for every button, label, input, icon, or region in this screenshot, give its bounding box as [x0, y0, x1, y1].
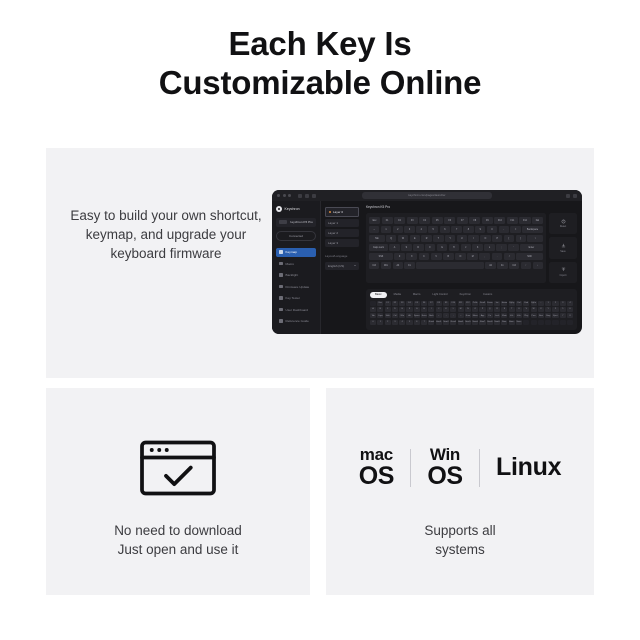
- keycap[interactable]: F5: [432, 217, 443, 224]
- key-picker-key[interactable]: Next: [538, 313, 544, 318]
- layer-item-3[interactable]: Layer 3: [325, 239, 359, 247]
- keycap[interactable]: /: [504, 253, 515, 260]
- key-picker-key[interactable]: Vol+: [516, 313, 522, 318]
- key-picker-tabs[interactable]: BasicMediaMacroLight ControlKeychronCust…: [370, 292, 573, 298]
- no-download-caption: No need to download Just open and use it: [114, 521, 242, 559]
- keycap[interactable]: [: [504, 235, 514, 242]
- keycap[interactable]: I: [468, 235, 478, 242]
- keycap[interactable]: Caps Lock: [369, 244, 388, 251]
- keycap[interactable]: Z: [394, 253, 405, 260]
- extensions-icon[interactable]: [566, 194, 570, 198]
- key-picker-key[interactable]: [531, 320, 537, 325]
- key-picker-key[interactable]: Num4: [458, 320, 464, 325]
- no-download-caption-line-1: No need to download: [114, 521, 242, 540]
- key-picker-key[interactable]: F6: [421, 301, 427, 306]
- key-picker-key[interactable]: Space: [414, 313, 420, 318]
- key-picker-key[interactable]: Enter: [421, 313, 427, 318]
- sidebar-item-user-dashboard[interactable]: User Dashboard: [276, 305, 316, 314]
- key-picker-key[interactable]: Stop: [545, 313, 551, 318]
- keycap[interactable]: ': [508, 244, 518, 251]
- keymap-icon: [279, 250, 283, 254]
- keycap[interactable]: Q: [386, 235, 396, 242]
- key-picker-key[interactable]: ↓: [450, 313, 456, 318]
- key-picker-key[interactable]: ↑: [443, 313, 449, 318]
- key-picker-key[interactable]: I: [428, 307, 434, 312]
- sidebar-item-label: Keymap: [286, 250, 297, 254]
- key-picker-row: EscF1F2F3F4F5F6F7F8F9F10F11F12PrtScScrol…: [370, 301, 573, 306]
- key-picker-tab[interactable]: Light Control: [427, 292, 452, 298]
- connection-status-badge[interactable]: Connected: [276, 231, 316, 241]
- key-picker-key[interactable]: K: [443, 307, 449, 312]
- keycap[interactable]: ;: [496, 244, 506, 251]
- sidebar-item-label: Reference Guide: [286, 319, 309, 323]
- key-picker-key[interactable]: Back: [428, 313, 434, 318]
- brand-name: Keychron: [285, 207, 300, 211]
- key-picker-tab[interactable]: Basic: [370, 292, 387, 298]
- key-picker-tab[interactable]: Media: [389, 292, 406, 298]
- browser-check-icon: [139, 438, 217, 498]
- app-main-stage: Keychron K5 Pro EscF1F2F3F4F5F6F7F8F9F10…: [363, 201, 582, 334]
- key-picker-key[interactable]: J: [436, 307, 442, 312]
- keycap[interactable]: \: [527, 235, 543, 242]
- sidebar-item-key-tester[interactable]: Key Tester: [276, 294, 316, 303]
- key-picker-key[interactable]: F7: [428, 301, 434, 306]
- keycap[interactable]: 6: [440, 226, 450, 233]
- sidebar-item-backlight[interactable]: Backlight: [276, 271, 316, 280]
- keyboard-row: EscF1F2F3F4F5F6F7F8F9F10F11F12Del: [369, 217, 543, 224]
- keyboard-row: ShiftZXCVBNM,./Shift: [369, 253, 543, 260]
- key-picker-key[interactable]: Num7: [479, 320, 485, 325]
- keycap[interactable]: Alt: [485, 262, 495, 269]
- guide-icon: [279, 319, 283, 323]
- keycap[interactable]: F11: [507, 217, 518, 224]
- keycap[interactable]: Alt: [393, 262, 403, 269]
- keycap[interactable]: F6: [444, 217, 455, 224]
- key-picker-panel: BasicMediaMacroLight ControlKeychronCust…: [366, 289, 577, 330]
- import-label: Import: [560, 274, 567, 277]
- key-picker-row: 01234567Num0Num1Num2Num3Num4Num5Num6Num7…: [370, 320, 573, 325]
- keycap[interactable]: B: [443, 253, 454, 260]
- layer-label: Layer 1: [328, 221, 338, 225]
- key-picker-tab[interactable]: Keychron: [455, 292, 476, 298]
- key-picker-key[interactable]: Num+: [509, 320, 515, 325]
- key-picker-key[interactable]: [567, 320, 573, 325]
- key-picker-key[interactable]: Win: [399, 313, 405, 318]
- import-icon: [561, 267, 566, 272]
- key-picker-key[interactable]: B: [377, 307, 383, 312]
- key-picker-key[interactable]: A: [370, 307, 376, 312]
- keycap[interactable]: F9: [482, 217, 493, 224]
- no-download-caption-line-2: Just open and use it: [114, 540, 242, 559]
- keycap[interactable]: 9: [475, 226, 485, 233]
- layout-language-label: Layout/Language: [325, 254, 359, 258]
- maximize-icon[interactable]: [288, 194, 291, 197]
- key-picker-key[interactable]: 0: [370, 320, 376, 325]
- app-sidebar: Keychron Keychron K5 Pro Connected Keyma…: [272, 201, 321, 334]
- browser-check-icon-wrap: [139, 425, 217, 511]
- key-picker-key[interactable]: [538, 320, 544, 325]
- reset-icon: [561, 219, 566, 224]
- key-picker-key[interactable]: Alt: [406, 313, 412, 318]
- key-picker-key[interactable]: H: [421, 307, 427, 312]
- address-bar-text: keychron.com/pages/launcher: [408, 194, 445, 197]
- keycap[interactable]: Backspace: [522, 226, 543, 233]
- brand: Keychron: [276, 206, 316, 212]
- layer-label: Layer 2: [328, 231, 338, 235]
- key-picker-key[interactable]: G: [414, 307, 420, 312]
- keycap[interactable]: -: [499, 226, 509, 233]
- key-picker-key[interactable]: [560, 320, 566, 325]
- app-body: Keychron Keychron K5 Pro Connected Keyma…: [272, 201, 582, 334]
- keycap[interactable]: G: [437, 244, 447, 251]
- dashboard-icon: [279, 308, 283, 312]
- keycap[interactable]: K: [472, 244, 482, 251]
- key-picker-key[interactable]: L: [450, 307, 456, 312]
- key-picker-key[interactable]: T: [509, 307, 515, 312]
- key-picker-key[interactable]: U: [516, 307, 522, 312]
- keycap[interactable]: F1: [382, 217, 393, 224]
- keycap[interactable]: .: [492, 253, 503, 260]
- key-picker-key[interactable]: F9: [443, 301, 449, 306]
- keycap[interactable]: V: [431, 253, 442, 260]
- close-icon[interactable]: [277, 194, 280, 197]
- layer-active-dot-icon: [329, 211, 331, 213]
- key-picker-key[interactable]: F5: [414, 301, 420, 306]
- os-divider-2: [479, 449, 481, 487]
- key-picker-key[interactable]: Lock: [494, 313, 500, 318]
- keycap[interactable]: ,: [479, 253, 490, 260]
- key-picker-key[interactable]: Num5: [465, 320, 471, 325]
- keycap[interactable]: X: [406, 253, 417, 260]
- key-picker-key[interactable]: [545, 320, 551, 325]
- keycap[interactable]: F2: [394, 217, 405, 224]
- keyboard-row: ~1234567890-=Backspace: [369, 226, 543, 233]
- feature-description: Easy to build your own shortcut, keymap,…: [60, 206, 272, 263]
- keycap[interactable]: 0: [487, 226, 497, 233]
- key-picker-key[interactable]: App: [479, 313, 485, 318]
- sidebar-item-firmware-update[interactable]: Firmware Update: [276, 282, 316, 291]
- linux-logo-label: Linux: [496, 455, 561, 480]
- keycap[interactable]: ↑: [521, 262, 531, 269]
- stage-title: Keychron K5 Pro: [366, 205, 577, 209]
- key-picker-key[interactable]: C: [385, 307, 391, 312]
- key-picker-key[interactable]: F1: [385, 301, 391, 306]
- key-picker-key[interactable]: PgUp: [509, 301, 515, 306]
- key-picker-key[interactable]: Del: [516, 301, 522, 306]
- macos-logo-bottom: OS: [359, 464, 394, 489]
- keycap[interactable]: N: [455, 253, 466, 260]
- key-picker-key[interactable]: Scroll: [479, 301, 485, 306]
- key-picker-key[interactable]: →: [458, 313, 464, 318]
- keycap[interactable]: S: [401, 244, 411, 251]
- key-picker-key[interactable]: D: [392, 307, 398, 312]
- keycap[interactable]: F10: [494, 217, 505, 224]
- key-picker-key[interactable]: Shift: [385, 313, 391, 318]
- key-picker-key[interactable]: Prev: [531, 313, 537, 318]
- keycap[interactable]: Win: [381, 262, 391, 269]
- layer-item-0[interactable]: Layer 0: [325, 207, 359, 217]
- key-picker-key[interactable]: [523, 320, 529, 325]
- key-picker-key[interactable]: F10: [450, 301, 456, 306]
- keycap[interactable]: Enter: [520, 244, 543, 251]
- key-picker-key[interactable]: Eject: [552, 313, 558, 318]
- sidebar-item-label: User Dashboard: [286, 308, 309, 312]
- os-support-caption: Supports all systems: [424, 521, 495, 559]
- keycap[interactable]: Y: [445, 235, 455, 242]
- keycap[interactable]: Del: [532, 217, 543, 224]
- sidebar-item-keymap[interactable]: Keymap: [276, 248, 316, 257]
- key-picker-key[interactable]: F12: [465, 301, 471, 306]
- key-picker-key[interactable]: Ins: [494, 301, 500, 306]
- keycap[interactable]: A: [389, 244, 399, 251]
- device-selector[interactable]: Keychron K5 Pro: [276, 218, 316, 227]
- keycap[interactable]: O: [480, 235, 490, 242]
- key-picker-key[interactable]: Num8: [487, 320, 493, 325]
- brand-logo-icon: [276, 206, 282, 212]
- macro-icon: [279, 262, 283, 266]
- keycap[interactable]: E: [410, 235, 420, 242]
- keyboard-layout[interactable]: EscF1F2F3F4F5F6F7F8F9F10F11F12Del~123456…: [366, 213, 546, 283]
- key-picker-key[interactable]: Y: [545, 307, 551, 312]
- key-picker-key[interactable]: F4: [406, 301, 412, 306]
- keycap[interactable]: Ctrl: [369, 262, 379, 269]
- keycap[interactable]: T: [433, 235, 443, 242]
- key-picker-grid[interactable]: EscF1F2F3F4F5F6F7F8F9F10F11F12PrtScScrol…: [370, 301, 573, 327]
- key-picker-key[interactable]: F8: [436, 301, 442, 306]
- key-picker-key[interactable]: Fn: [487, 313, 493, 318]
- layer-item-2[interactable]: Layer 2: [325, 229, 359, 237]
- sidebar-item-label: Backlight: [286, 273, 299, 277]
- key-picker-key[interactable]: Num: [465, 313, 471, 318]
- key-picker-key[interactable]: Play: [523, 313, 529, 318]
- os-logos: mac OS Win OS Linux: [359, 446, 561, 489]
- layout-language-value: English (US): [328, 264, 344, 268]
- forward-icon[interactable]: [305, 194, 309, 198]
- key-picker-key[interactable]: 8: [567, 313, 573, 318]
- key-picker-key[interactable]: R: [494, 307, 500, 312]
- page-title-line-2: Customizable Online: [0, 63, 640, 102]
- key-picker-key[interactable]: Num.: [501, 320, 507, 325]
- keycap[interactable]: C: [419, 253, 430, 260]
- menu-icon[interactable]: [573, 194, 577, 198]
- keycap[interactable]: Esc: [369, 217, 380, 224]
- reset-label: Reset: [560, 225, 566, 228]
- layer-panel: Layer 0 Layer 1 Layer 2 Layer 3 Layout/L…: [321, 201, 363, 334]
- key-picker-tab[interactable]: Custom: [478, 292, 497, 298]
- keycap[interactable]: 4: [416, 226, 426, 233]
- key-picker-key[interactable]: 2: [385, 320, 391, 325]
- windows-logo-top: Win: [430, 446, 460, 463]
- keycap[interactable]: 7: [451, 226, 461, 233]
- key-picker-key[interactable]: 5: [406, 320, 412, 325]
- key-picker-row: ABCDEFGHIJKLMNOPQRSTUVWXYZ56: [370, 307, 573, 312]
- save-label: Save: [560, 250, 565, 253]
- keycap[interactable]: M: [467, 253, 478, 260]
- key-picker-key[interactable]: [552, 320, 558, 325]
- keycap[interactable]: Tab: [369, 235, 385, 242]
- key-picker-key[interactable]: 2: [552, 301, 558, 306]
- macos-logo-top: mac: [360, 446, 393, 463]
- key-picker-key[interactable]: ~: [538, 301, 544, 306]
- titlebar-right-icons: [566, 194, 577, 198]
- keyboard-icon: [279, 220, 287, 224]
- keycap[interactable]: U: [457, 235, 467, 242]
- backlight-icon: [279, 273, 283, 277]
- keycap[interactable]: 1: [381, 226, 391, 233]
- key-picker-key[interactable]: O: [472, 307, 478, 312]
- stage-action-buttons: Reset Save: [549, 213, 577, 283]
- key-picker-key[interactable]: 1: [545, 301, 551, 306]
- keycap[interactable]: F7: [457, 217, 468, 224]
- key-picker-key[interactable]: N: [465, 307, 471, 312]
- keycap[interactable]: F: [425, 244, 435, 251]
- key-picker-key[interactable]: Pause: [487, 301, 493, 306]
- keycap[interactable]: ~: [369, 226, 379, 233]
- key-picker-key[interactable]: 7: [421, 320, 427, 325]
- keycap[interactable]: F3: [407, 217, 418, 224]
- keycap[interactable]: F4: [419, 217, 430, 224]
- key-picker-key[interactable]: P: [479, 307, 485, 312]
- key-picker-key[interactable]: 7: [560, 313, 566, 318]
- os-divider-1: [410, 449, 412, 487]
- keyboard-row: Caps LockASDFGHJKL;'Enter: [369, 244, 543, 251]
- windows-logo: Win OS: [427, 446, 462, 489]
- minimize-icon[interactable]: [283, 194, 286, 197]
- key-picker-key[interactable]: PrtSc: [472, 301, 478, 306]
- key-picker-key[interactable]: S: [501, 307, 507, 312]
- feature-card-os-support: mac OS Win OS Linux Supports all systems: [326, 388, 594, 595]
- key-picker-key[interactable]: Num1: [436, 320, 442, 325]
- key-picker-key[interactable]: Num3: [450, 320, 456, 325]
- key-picker-key[interactable]: M: [458, 307, 464, 312]
- key-picker-key[interactable]: 5: [560, 307, 566, 312]
- key-picker-key[interactable]: Num9: [494, 320, 500, 325]
- key-picker-tab[interactable]: Macro: [408, 292, 425, 298]
- keycap[interactable]: 8: [463, 226, 473, 233]
- key-picker-key[interactable]: Caps: [377, 313, 383, 318]
- keycap[interactable]: ]: [516, 235, 526, 242]
- key-picker-key[interactable]: Q: [487, 307, 493, 312]
- key-picker-key[interactable]: Num2: [443, 320, 449, 325]
- key-picker-key[interactable]: 4: [399, 320, 405, 325]
- key-picker-key[interactable]: 3: [560, 301, 566, 306]
- page-title-line-1: Each Key Is: [0, 24, 640, 63]
- sidebar-item-macro[interactable]: Macro: [276, 259, 316, 268]
- reset-button[interactable]: Reset: [549, 213, 577, 234]
- key-picker-key[interactable]: 1: [377, 320, 383, 325]
- key-picker-key[interactable]: F: [406, 307, 412, 312]
- key-picker-key[interactable]: Num6: [472, 320, 478, 325]
- keycap[interactable]: ↓: [533, 262, 543, 269]
- keycap[interactable]: L: [484, 244, 494, 251]
- key-picker-row: TabCapsShiftCtrlWinAltSpaceEnterBack←↑↓→…: [370, 313, 573, 318]
- key-picker-key[interactable]: Mute: [501, 313, 507, 318]
- keycap[interactable]: P: [492, 235, 502, 242]
- key-picker-key[interactable]: V: [523, 307, 529, 312]
- feature-card-no-download: No need to download Just open and use it: [46, 388, 310, 595]
- layer-item-1[interactable]: Layer 1: [325, 219, 359, 227]
- keycap[interactable]: Fn: [497, 262, 507, 269]
- windows-logo-bottom: OS: [427, 464, 462, 489]
- titlebar-nav-icons: [298, 194, 316, 198]
- key-picker-key[interactable]: 4: [567, 301, 573, 306]
- key-picker-key[interactable]: Menu: [472, 313, 478, 318]
- key-picker-key[interactable]: PgDn: [531, 301, 537, 306]
- key-picker-key[interactable]: Z: [552, 307, 558, 312]
- keycap[interactable]: 3: [404, 226, 414, 233]
- key-tester-icon: [279, 296, 283, 300]
- keycap[interactable]: =: [510, 226, 520, 233]
- app-titlebar: keychron.com/pages/launcher: [272, 190, 582, 201]
- import-button[interactable]: Import: [549, 262, 577, 283]
- key-picker-key[interactable]: X: [538, 307, 544, 312]
- key-picker-key[interactable]: 3: [392, 320, 398, 325]
- chevron-down-icon: [354, 265, 356, 266]
- layer-label: Layer 0: [333, 210, 343, 214]
- keycap[interactable]: J: [461, 244, 471, 251]
- page-title: Each Key Is Customizable Online: [0, 0, 640, 102]
- key-picker-key[interactable]: 6: [414, 320, 420, 325]
- keycap[interactable]: Shift: [516, 253, 543, 260]
- save-button[interactable]: Save: [549, 237, 577, 258]
- keyboard-row: TabQWERTYUIOP[]\: [369, 235, 543, 242]
- macos-logo: mac OS: [359, 446, 394, 489]
- firmware-icon: [279, 285, 283, 289]
- address-bar[interactable]: keychron.com/pages/launcher: [362, 192, 492, 199]
- sidebar-item-reference-guide[interactable]: Reference Guide: [276, 317, 316, 326]
- keycap[interactable]: 2: [393, 226, 403, 233]
- key-picker-key[interactable]: F3: [399, 301, 405, 306]
- keycap[interactable]: F8: [469, 217, 480, 224]
- traffic-light-dots: [277, 194, 291, 197]
- key-picker-key[interactable]: F2: [392, 301, 398, 306]
- keycap[interactable]: Shift: [369, 253, 393, 260]
- key-picker-key[interactable]: [370, 301, 376, 306]
- keycap[interactable]: R: [421, 235, 431, 242]
- keycap[interactable]: Fn: [404, 262, 414, 269]
- key-picker-key[interactable]: ←: [436, 313, 442, 318]
- app-window-screenshot: keychron.com/pages/launcher Keychron Key…: [272, 190, 582, 334]
- keycap[interactable]: F12: [519, 217, 530, 224]
- key-picker-key[interactable]: E: [399, 307, 405, 312]
- reload-icon[interactable]: [312, 194, 316, 198]
- key-picker-key[interactable]: Num0: [428, 320, 434, 325]
- key-picker-key[interactable]: Tab: [370, 313, 376, 318]
- os-support-caption-line-2: systems: [424, 540, 495, 559]
- key-picker-key[interactable]: Esc: [377, 301, 383, 306]
- keycap[interactable]: W: [398, 235, 408, 242]
- save-icon: [561, 243, 566, 248]
- keycap[interactable]: [416, 262, 484, 269]
- os-logos-wrap: mac OS Win OS Linux: [359, 425, 561, 511]
- key-picker-key[interactable]: W: [531, 307, 537, 312]
- key-picker-key[interactable]: Num-: [516, 320, 522, 325]
- keycap[interactable]: H: [449, 244, 459, 251]
- back-icon[interactable]: [298, 194, 302, 198]
- keycap[interactable]: D: [413, 244, 423, 251]
- key-picker-key[interactable]: F11: [458, 301, 464, 306]
- key-picker-key[interactable]: Ctrl: [392, 313, 398, 318]
- layout-language-select[interactable]: English (US): [325, 262, 359, 270]
- key-picker-key[interactable]: 6: [567, 307, 573, 312]
- keyboard-row: CtrlWinAltFnAltFnCtrl↑↓: [369, 262, 543, 269]
- layer-label: Layer 3: [328, 241, 338, 245]
- keycap[interactable]: 5: [428, 226, 438, 233]
- key-picker-key[interactable]: Home: [501, 301, 507, 306]
- keycap[interactable]: Ctrl: [509, 262, 519, 269]
- key-picker-key[interactable]: End: [523, 301, 529, 306]
- key-picker-key[interactable]: Vol-: [509, 313, 515, 318]
